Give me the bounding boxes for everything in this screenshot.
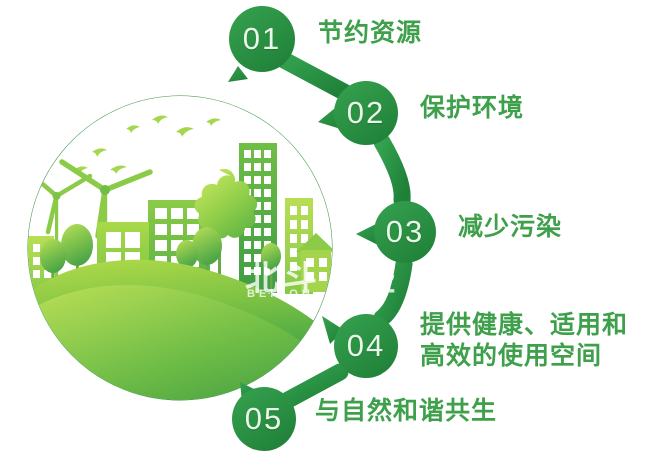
step-label-5: 与自然和谐共生 [315, 396, 497, 427]
connector-2-3 [382, 142, 402, 200]
step-label-4: 提供健康、适用和 高效的使用空间 [420, 310, 628, 371]
connector-1-2 [284, 60, 344, 92]
step-label-2: 保护环境 [420, 93, 524, 124]
infographic-canvas: 01 02 03 04 05 节约资源 保护环境 减少污染 提供健康、适用和 高… [0, 0, 650, 455]
watermark-english: BEIDOU E [247, 288, 353, 300]
step-label-3: 减少污染 [458, 212, 562, 243]
step-label-1: 节约资源 [318, 18, 422, 49]
step-badge-1[interactable] [228, 6, 295, 82]
